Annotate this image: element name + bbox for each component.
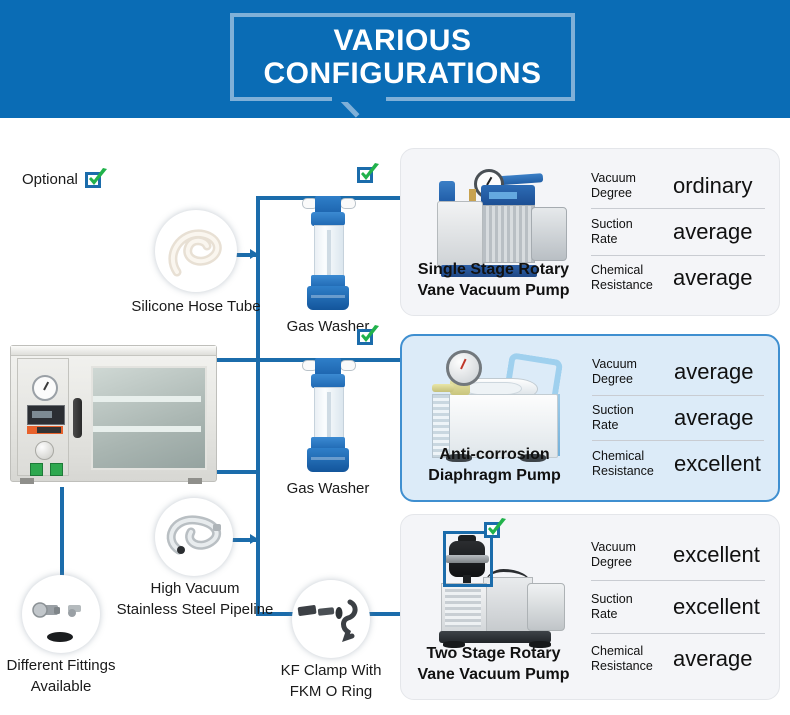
two-stage-pump-icon xyxy=(419,521,584,653)
accessory-gas-washer-1: Gas Washer xyxy=(298,190,358,315)
card-2-spec-row-suction-rate: Suction Rate average xyxy=(592,396,764,442)
spec-key-chemical-resistance: Chemical Resistance xyxy=(591,644,663,674)
card-3-product-image: Two Stage Rotary Vane Vacuum Pump xyxy=(401,515,586,699)
gas-washer-icon xyxy=(298,190,358,315)
card-3-value-suction-rate: excellent xyxy=(663,594,765,620)
card-single-stage-rotary-vane-vacuum-pump[interactable]: Single Stage Rotary Vane Vacuum Pump Vac… xyxy=(400,148,780,316)
oven-switch-2[interactable] xyxy=(50,463,63,476)
card-1-name-line-1: Single Stage Rotary xyxy=(401,259,586,280)
card-3-spec-row-vacuum-degree: Vacuum Degree excellent xyxy=(591,529,765,581)
accessory-label-gas-washer-1: Gas Washer xyxy=(253,316,403,337)
gas-washer-icon xyxy=(298,352,358,477)
header-title-line-2: CONFIGURATIONS xyxy=(263,57,541,90)
card-1-name-line-2: Vane Vacuum Pump xyxy=(401,280,586,301)
card-2-name-line-2: Diaphragm Pump xyxy=(402,465,587,486)
vacuum-drying-oven xyxy=(10,345,215,490)
card-3-value-vacuum-degree: excellent xyxy=(663,542,765,568)
accessory-kf-clamp: KF Clamp With FKM O Ring xyxy=(292,580,370,658)
accessory-high-vacuum-pipeline: High Vacuum Stainless Steel Pipeline xyxy=(155,498,233,576)
oven-pressure-gauge-icon xyxy=(32,375,58,401)
header-bubble-tail-mask xyxy=(332,94,386,102)
oven-door-window xyxy=(91,366,207,470)
arrow-hose-to-trunk-icon xyxy=(250,249,258,259)
connector-trunk-vertical xyxy=(256,196,260,616)
fittings-icon xyxy=(22,575,100,653)
stainless-pipeline-icon xyxy=(155,498,233,576)
accessory-label-kf-clamp: KF Clamp With FKM O Ring xyxy=(262,660,400,702)
card-1-product-name: Single Stage Rotary Vane Vacuum Pump xyxy=(401,259,586,301)
card-2-spec-table: Vacuum Degree average Suction Rate avera… xyxy=(592,350,764,486)
connector-fittings-stub xyxy=(60,490,64,576)
card-3-name-line-2: Vane Vacuum Pump xyxy=(401,664,586,685)
card-2-spec-row-chemical-resistance: Chemical Resistance excellent xyxy=(592,441,764,486)
green-check-icon-gas-washer-1 xyxy=(357,163,379,185)
accessory-gas-washer-2: Gas Washer xyxy=(298,352,358,477)
oven-switch-1[interactable] xyxy=(30,463,43,476)
accessory-label-pipeline: High Vacuum Stainless Steel Pipeline xyxy=(107,578,283,620)
pipeline-label-line-1: High Vacuum xyxy=(107,578,283,599)
silicone-hose-icon xyxy=(155,210,237,292)
spec-key-suction-rate: Suction Rate xyxy=(591,592,663,622)
optional-legend-label: Optional xyxy=(22,171,78,188)
card-1-spec-row-vacuum-degree: Vacuum Degree ordinary xyxy=(591,163,765,209)
spec-key-vacuum-degree: Vacuum Degree xyxy=(591,171,663,201)
card-3-spec-row-suction-rate: Suction Rate excellent xyxy=(591,581,765,633)
oven-brand-strip xyxy=(27,426,63,434)
configuration-diagram-page: VARIOUS CONFIGURATIONS Optional xyxy=(0,0,790,715)
spec-key-vacuum-degree: Vacuum Degree xyxy=(592,357,664,387)
spec-key-vacuum-degree: Vacuum Degree xyxy=(591,540,663,570)
card-3-spec-row-chemical-resistance: Chemical Resistance average xyxy=(591,634,765,685)
oven-door-handle[interactable] xyxy=(73,398,82,438)
card-3-value-chemical-resistance: average xyxy=(663,646,765,672)
spec-key-suction-rate: Suction Rate xyxy=(591,217,663,247)
card-2-value-suction-rate: average xyxy=(664,405,764,431)
card-1-value-vacuum-degree: ordinary xyxy=(663,173,765,199)
oven-display xyxy=(27,405,65,425)
card-3-product-name: Two Stage Rotary Vane Vacuum Pump xyxy=(401,643,586,685)
optional-legend: Optional xyxy=(22,168,107,190)
card-2-value-vacuum-degree: average xyxy=(664,359,764,385)
card-2-name-line-1: Anti-corrosion xyxy=(402,444,587,465)
kf-clamp-icon xyxy=(292,580,370,658)
card-anti-corrosion-diaphragm-pump[interactable]: Anti-corrosion Diaphragm Pump Vacuum Deg… xyxy=(400,334,780,502)
fittings-label-line-2: Available xyxy=(0,676,122,697)
accessory-different-fittings: Different Fittings Available xyxy=(22,575,100,653)
card-1-spec-row-suction-rate: Suction Rate average xyxy=(591,209,765,255)
card-1-value-suction-rate: average xyxy=(663,219,765,245)
kf-clamp-label-line-2: FKM O Ring xyxy=(262,681,400,702)
accessory-label-gas-washer-2: Gas Washer xyxy=(253,478,403,499)
spec-key-chemical-resistance: Chemical Resistance xyxy=(592,449,664,479)
card-3-name-line-1: Two Stage Rotary xyxy=(401,643,586,664)
card-1-spec-row-chemical-resistance: Chemical Resistance average xyxy=(591,256,765,301)
oven-knob[interactable] xyxy=(35,441,54,460)
green-check-icon xyxy=(85,168,107,190)
accessory-label-fittings: Different Fittings Available xyxy=(0,655,122,697)
card-2-product-name: Anti-corrosion Diaphragm Pump xyxy=(402,444,587,486)
card-1-value-chemical-resistance: average xyxy=(663,265,765,291)
card-1-product-image: Single Stage Rotary Vane Vacuum Pump xyxy=(401,149,586,315)
spec-key-suction-rate: Suction Rate xyxy=(592,403,664,433)
header-title-line-1: VARIOUS xyxy=(334,24,472,57)
kf-clamp-label-line-1: KF Clamp With xyxy=(262,660,400,681)
arrow-pipeline-to-trunk-icon xyxy=(250,534,258,544)
card-3-spec-table: Vacuum Degree excellent Suction Rate exc… xyxy=(591,529,765,685)
card-2-value-chemical-resistance: excellent xyxy=(664,451,764,477)
oven-control-panel xyxy=(17,358,69,476)
pipeline-label-line-2: Stainless Steel Pipeline xyxy=(107,599,283,620)
green-check-icon-two-stage-pump xyxy=(484,518,506,540)
spec-key-chemical-resistance: Chemical Resistance xyxy=(591,263,663,293)
card-2-product-image: Anti-corrosion Diaphragm Pump xyxy=(402,336,587,500)
card-two-stage-rotary-vane-vacuum-pump[interactable]: Two Stage Rotary Vane Vacuum Pump Vacuum… xyxy=(400,514,780,700)
card-1-spec-table: Vacuum Degree ordinary Suction Rate aver… xyxy=(591,163,765,301)
card-2-spec-row-vacuum-degree: Vacuum Degree average xyxy=(592,350,764,396)
green-check-icon-gas-washer-2 xyxy=(357,325,379,347)
accessory-label-silicone-hose-tube: Silicone Hose Tube xyxy=(115,296,277,317)
header-title-bubble: VARIOUS CONFIGURATIONS xyxy=(230,13,575,101)
accessory-silicone-hose-tube: Silicone Hose Tube xyxy=(155,210,237,292)
fittings-label-line-1: Different Fittings xyxy=(0,655,122,676)
page-header: VARIOUS CONFIGURATIONS xyxy=(0,0,790,118)
